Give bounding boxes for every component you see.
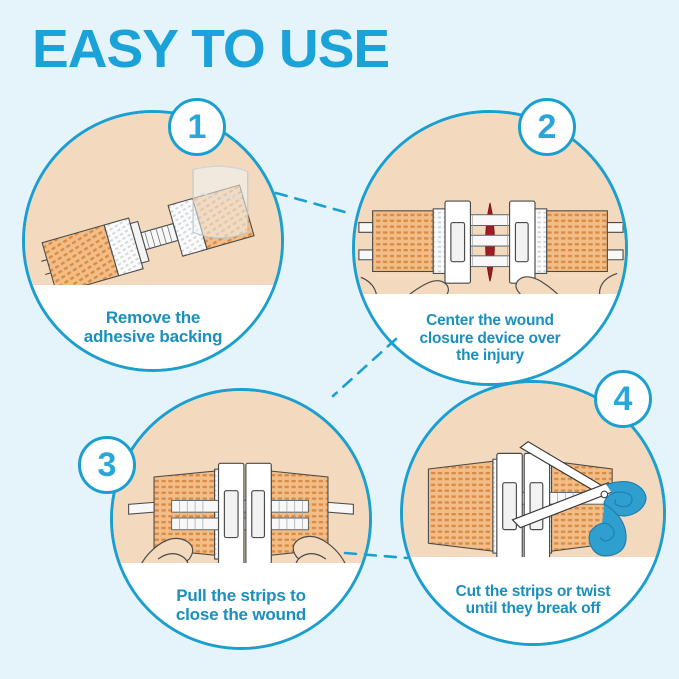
step-panel-2[interactable]: Center the woundclosure device overthe i… (352, 110, 628, 386)
step-badge-1[interactable]: 1 (168, 98, 226, 156)
step-badge-2[interactable]: 2 (518, 98, 576, 156)
step-2-caption-text: Center the woundclosure device overthe i… (420, 312, 561, 364)
step-3-caption-text: Pull the strips toclose the wound (176, 586, 306, 624)
page-title: EASY TO USE (32, 22, 389, 76)
step-badge-3[interactable]: 3 (78, 436, 136, 494)
step-3-caption: Pull the strips toclose the wound (113, 563, 369, 647)
connector-1-to-2 (276, 193, 352, 214)
step-panel-3[interactable]: Pull the strips toclose the wound (110, 388, 372, 650)
step-4-caption-text: Cut the strips or twistuntil they break … (456, 583, 611, 618)
step-1-caption: Remove theadhesive backing (25, 285, 281, 369)
step-1-caption-text: Remove theadhesive backing (84, 308, 223, 346)
step-badge-4[interactable]: 4 (594, 370, 652, 428)
step-panel-1[interactable]: Remove theadhesive backing (22, 110, 284, 372)
step-4-caption: Cut the strips or twistuntil they break … (403, 557, 663, 643)
step-2-caption: Center the woundclosure device overthe i… (355, 294, 625, 383)
infographic-canvas: EASY TO USE (0, 0, 679, 679)
